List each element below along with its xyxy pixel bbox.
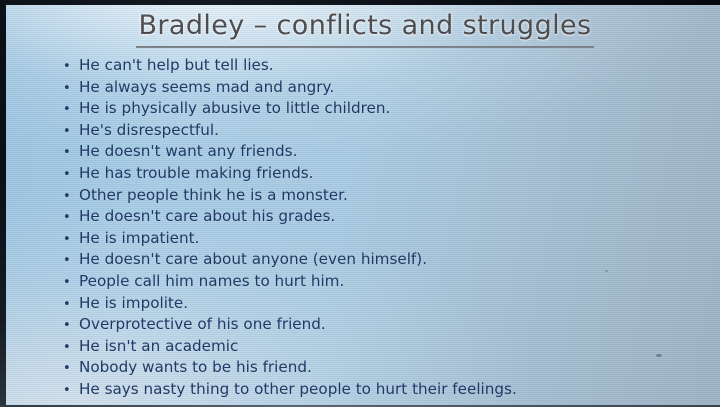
list-item: • He's disrespectful. [63, 120, 703, 142]
list-item-label: He's disrespectful. [79, 120, 219, 142]
list-item-label: Other people think he is a monster. [79, 185, 348, 207]
bullet-dot-icon: • [63, 142, 79, 164]
presentation-slide: Bradley – conflicts and struggles • He c… [5, 4, 720, 406]
list-item-label: He is impolite. [79, 293, 188, 315]
list-item: • He is physically abusive to little chi… [63, 98, 703, 120]
bullet-dot-icon: • [63, 272, 79, 294]
list-item-label: He always seems mad and angry. [79, 77, 334, 99]
bullet-dot-icon: • [63, 294, 79, 316]
list-item-label: He is impatient. [79, 228, 199, 250]
bullet-dot-icon: • [63, 121, 79, 143]
list-item: • He doesn't care about anyone (even him… [63, 249, 703, 271]
list-item: • Nobody wants to be his friend. [63, 357, 703, 379]
bullet-dot-icon: • [63, 229, 79, 251]
list-item-label: People call him names to hurt him. [79, 271, 344, 293]
bullet-dot-icon: • [63, 78, 79, 100]
list-item-label: He is physically abusive to little child… [79, 98, 390, 120]
list-item: • He isn't an academic [63, 336, 703, 358]
list-item-label: He has trouble making friends. [79, 163, 313, 185]
bullet-dot-icon: • [63, 250, 79, 272]
page-title: Bradley – conflicts and struggles [136, 10, 593, 48]
list-item-label: He doesn't care about his grades. [79, 206, 335, 228]
photographed-projection-screen: Bradley – conflicts and struggles • He c… [0, 0, 720, 407]
list-item: • Overprotective of his one friend. [63, 314, 703, 336]
bullet-dot-icon: • [63, 164, 79, 186]
list-item: • People call him names to hurt him. [63, 271, 703, 293]
list-item: • He always seems mad and angry. [63, 77, 703, 99]
list-item-label: Nobody wants to be his friend. [79, 357, 312, 379]
list-item: • Other people think he is a monster. [63, 185, 703, 207]
bullet-dot-icon: • [63, 56, 79, 78]
list-item: • He doesn't care about his grades. [63, 206, 703, 228]
bullet-dot-icon: • [63, 207, 79, 229]
list-item-label: He doesn't care about anyone (even himse… [79, 249, 427, 271]
bullet-dot-icon: • [63, 186, 79, 208]
list-item: • He says nasty thing to other people to… [63, 379, 703, 401]
list-item-label: He can't help but tell lies. [79, 55, 274, 77]
bullet-dot-icon: • [63, 337, 79, 359]
list-item-label: He doesn't want any friends. [79, 141, 297, 163]
list-item-label: He isn't an academic [79, 336, 238, 358]
list-item: • He has trouble making friends. [63, 163, 703, 185]
bullet-dot-icon: • [63, 358, 79, 380]
photo-edge-left [0, 0, 6, 407]
bullet-dot-icon: • [63, 380, 79, 402]
list-item-label: He says nasty thing to other people to h… [79, 379, 517, 401]
list-item: • He is impolite. [63, 293, 703, 315]
list-item: • He can't help but tell lies. [63, 55, 703, 77]
bullet-dot-icon: • [63, 99, 79, 121]
list-item: • He doesn't want any friends. [63, 141, 703, 163]
projection-surface: Bradley – conflicts and struggles • He c… [5, 4, 720, 406]
list-item-label: Overprotective of his one friend. [79, 314, 326, 336]
photo-edge-top [0, 0, 720, 5]
bullet-list: • He can't help but tell lies. • He alwa… [63, 55, 703, 401]
list-item: • He is impatient. [63, 228, 703, 250]
bullet-dot-icon: • [63, 315, 79, 337]
slide-title-container: Bradley – conflicts and struggles [5, 10, 720, 48]
